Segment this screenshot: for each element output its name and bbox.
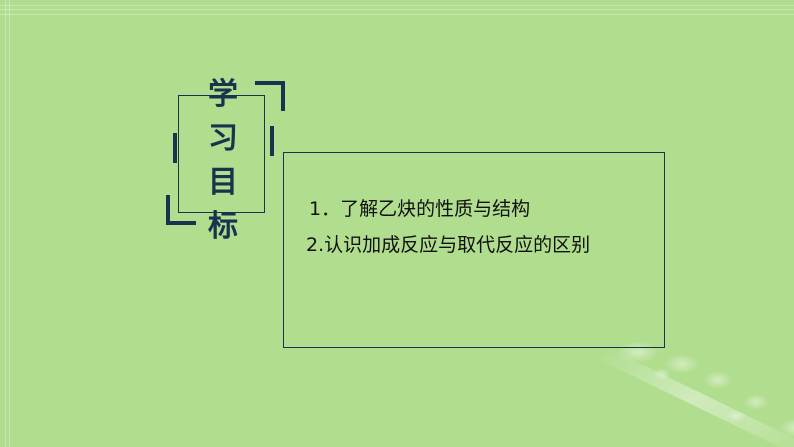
heading-char-1: 学	[193, 73, 253, 117]
objectives-list: 1．了解乙炔的性质与结构 2.认识加成反应与取代反应的区别	[306, 191, 654, 263]
edge-rule-vertical-1	[5, 0, 6, 447]
learning-objectives-heading: 学 习 目 标	[160, 60, 300, 250]
heading-vertical-text: 学 习 目 标	[193, 73, 253, 249]
edge-rule-vertical-2	[9, 0, 10, 447]
heading-char-3: 目	[193, 161, 253, 205]
edge-rule-horizontal-1	[0, 5, 794, 6]
heading-char-4: 标	[193, 205, 253, 249]
heading-char-2: 习	[193, 117, 253, 161]
objective-item-1: 1．了解乙炔的性质与结构	[306, 191, 654, 227]
edge-rule-horizontal-2	[0, 9, 794, 10]
objective-item-2: 2.认识加成反应与取代反应的区别	[306, 227, 654, 263]
heading-corner-bracket-bottom-left	[166, 195, 196, 225]
heading-corner-bracket-top-right	[255, 81, 285, 111]
slide-canvas: 学 习 目 标 1．了解乙炔的性质与结构 2.认识加成反应与取代反应的区别	[0, 0, 794, 447]
edge-rule-horizontal-3	[0, 14, 794, 15]
objectives-content-box: 1．了解乙炔的性质与结构 2.认识加成反应与取代反应的区别	[283, 152, 665, 348]
heading-tick-right	[270, 126, 274, 156]
heading-tick-left	[173, 133, 177, 163]
